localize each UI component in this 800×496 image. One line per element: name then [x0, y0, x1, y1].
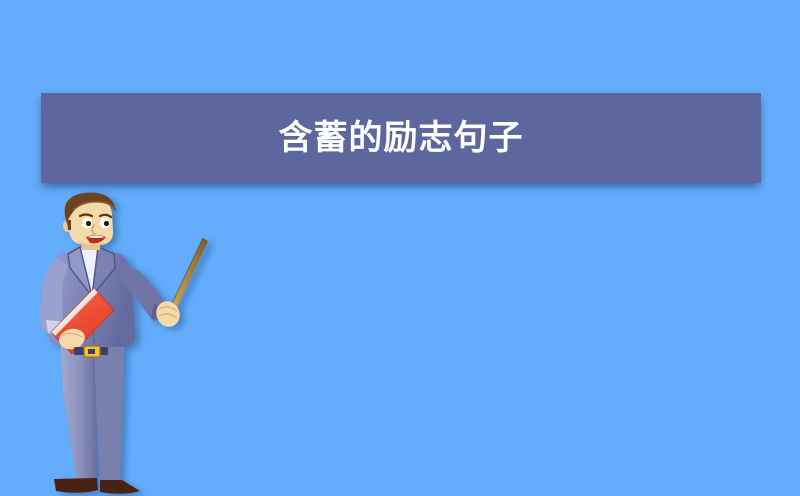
right-shoe	[100, 480, 140, 494]
teacher-figure	[40, 192, 208, 493]
pointer-stick-edge	[168, 238, 203, 312]
left-shoe	[54, 478, 98, 493]
right-pupil	[104, 221, 109, 226]
belt-buckle-inner	[88, 349, 95, 354]
page-root: 含蓄的励志句子	[0, 0, 800, 496]
page-title: 含蓄的励志句子	[279, 121, 524, 155]
title-banner: 含蓄的励志句子	[41, 93, 761, 183]
left-pupil	[86, 221, 91, 226]
left-leg	[60, 338, 97, 478]
head	[63, 192, 116, 245]
teacher-illustration	[18, 192, 218, 496]
